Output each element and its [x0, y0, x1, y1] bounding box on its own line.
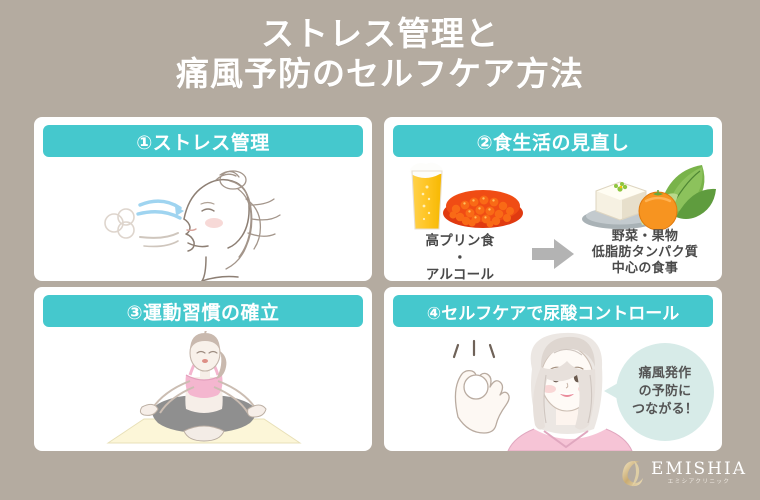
right-caption-line-1: 野菜・果物: [570, 229, 720, 245]
panel-body-2: 高プリン食 ・ アルコール: [384, 161, 722, 281]
right-caption-line-3: 中心の食事: [570, 261, 720, 277]
woman-deep-breathing-illustration: [34, 161, 372, 281]
speech-bubble-text: 痛風発作 の予防に つながる！: [632, 365, 698, 419]
page-title: ストレス管理と 痛風予防のセルフケア方法: [0, 14, 760, 94]
left-caption-line-1: 高プリン食: [390, 233, 530, 250]
infographic-root: ストレス管理と 痛風予防のセルフケア方法 ①ストレス管理: [0, 0, 760, 500]
title-line-1: ストレス管理と: [261, 14, 499, 53]
panel-body-3: [34, 331, 372, 451]
left-caption-line-3: アルコール: [390, 267, 530, 281]
salmon-roe: [443, 190, 523, 228]
logo-subtitle: エミシアクリニック: [651, 478, 747, 486]
right-caption-line-2: 低脂肪タンパク質: [570, 245, 720, 261]
healthy-food-illustration: [580, 161, 716, 233]
panel-heading-3: ③運動習慣の確立: [43, 295, 363, 327]
panel-heading-1: ①ストレス管理: [43, 125, 363, 157]
right-arrow-icon: [532, 239, 574, 269]
panel-body-4: 痛風発作 の予防に つながる！: [384, 331, 722, 451]
high-purine-food-illustration: [398, 161, 528, 233]
panel-heading-4: ④セルフケアで尿酸コントロール: [393, 295, 713, 327]
bubble-line-2: の予防に: [632, 383, 698, 401]
left-caption-line-2: ・: [390, 250, 530, 267]
logo-name: EMISHIA: [651, 460, 747, 478]
bubble-line-1: 痛風発作: [632, 365, 698, 383]
speech-bubble: 痛風発作 の予防に つながる！: [616, 343, 714, 441]
title-line-2: 痛風予防のセルフケア方法: [0, 54, 760, 94]
emishia-logo: EMISHIA エミシアクリニック: [620, 456, 750, 490]
panel-uric-acid-control: ④セルフケアで尿酸コントロール: [384, 287, 722, 451]
panel-body-1: [34, 161, 372, 281]
right-caption: 野菜・果物 低脂肪タンパク質 中心の食事: [570, 229, 720, 277]
left-caption: 高プリン食 ・ アルコール: [390, 233, 530, 281]
logo-text-block: EMISHIA エミシアクリニック: [651, 460, 747, 486]
panel-exercise-habit: ③運動習慣の確立: [34, 287, 372, 451]
emishia-e-mark-icon: [620, 458, 646, 488]
bubble-line-3: つながる！: [632, 401, 698, 419]
panel-diet-review: ②食生活の見直し: [384, 117, 722, 281]
panel-heading-2: ②食生活の見直し: [393, 125, 713, 157]
panel-stress-management: ①ストレス管理: [34, 117, 372, 281]
panel-grid: ①ストレス管理: [34, 117, 726, 451]
yoga-meditation-illustration: [34, 331, 372, 451]
